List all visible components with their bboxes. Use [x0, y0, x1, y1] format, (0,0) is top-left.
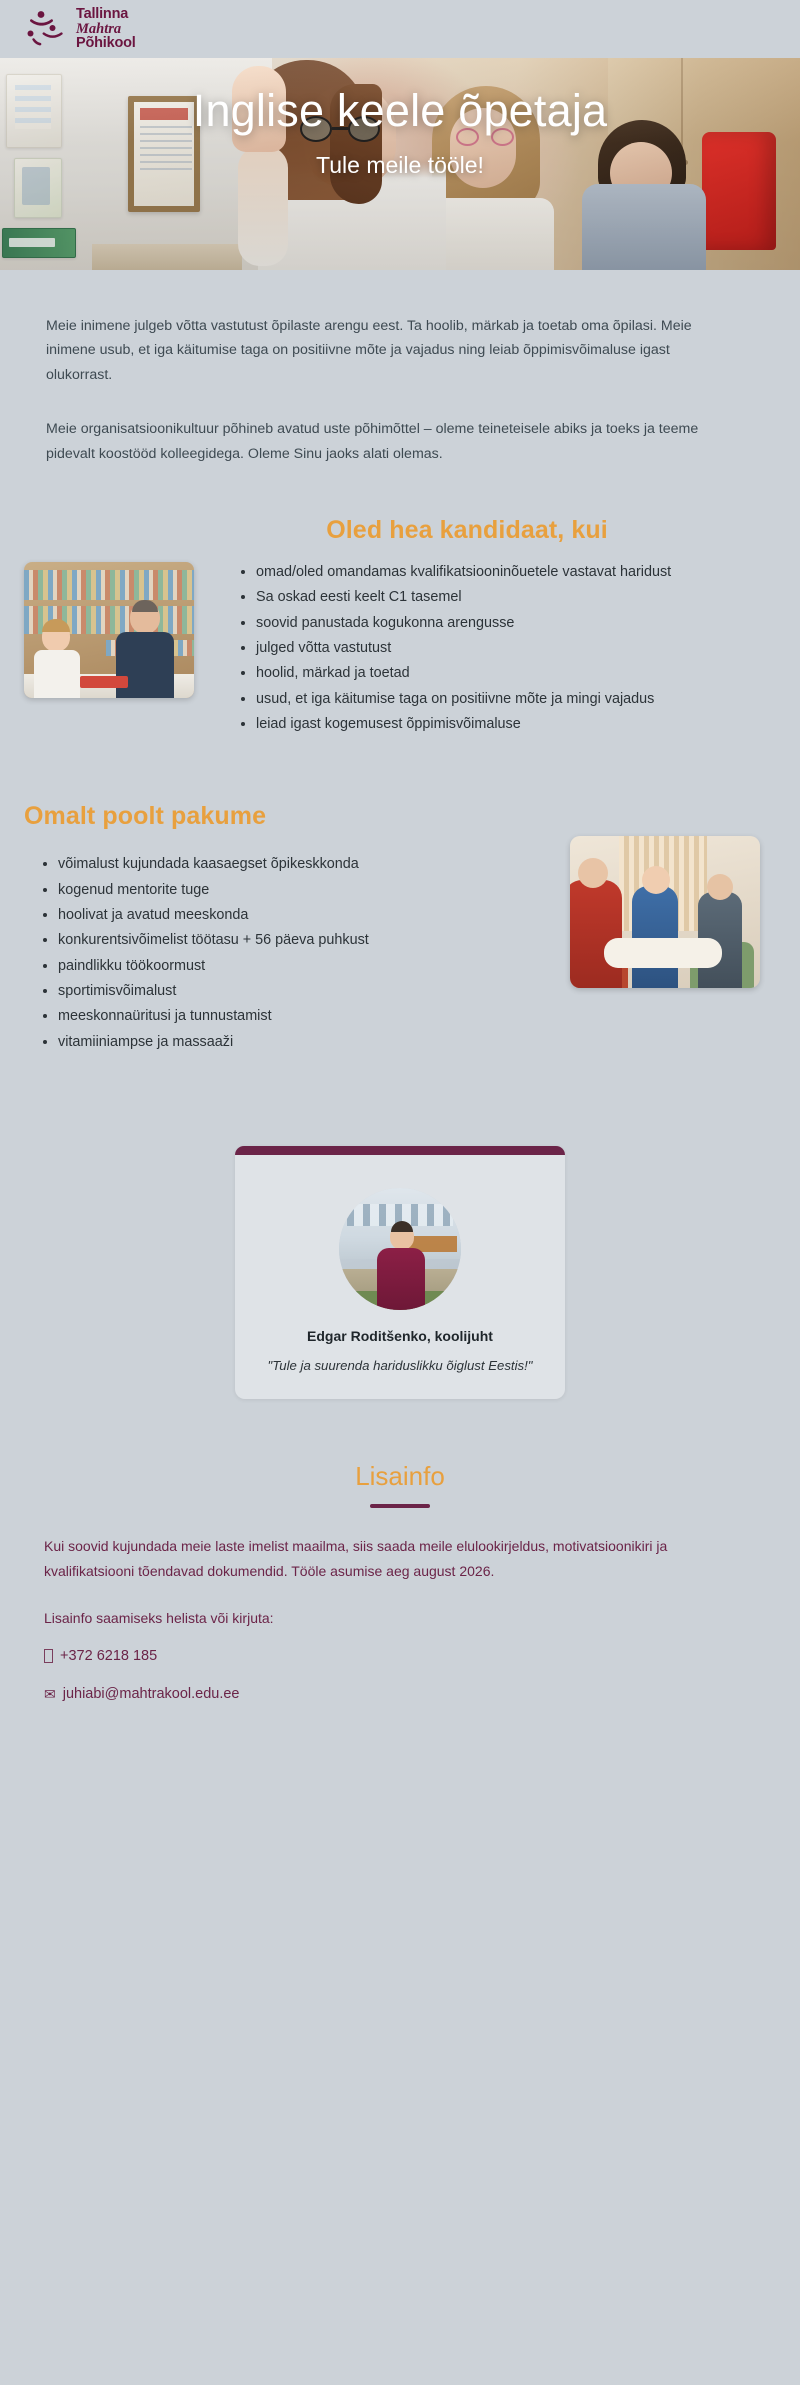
logo-line-1: Tallinna: [76, 7, 136, 22]
list-item: omad/oled omandamas kvalifikatsiooninõue…: [256, 561, 764, 583]
list-item: leiad igast kogemusest õppimisvõimaluse: [256, 713, 764, 735]
hero-subtitle: Tule meile tööle!: [0, 152, 800, 179]
list-item: vitamiiniampse ja massaaži: [58, 1031, 570, 1053]
list-item: Sa oskad eesti keelt C1 tasemel: [256, 586, 764, 608]
envelope-icon: ✉: [44, 1687, 56, 1701]
offer-section: Omalt poolt pakume võimalust kujundada k…: [0, 760, 800, 1102]
candidate-list: omad/oled omandamas kvalifikatsiooninõue…: [210, 561, 764, 735]
contact-prompt: Lisainfo saamiseks helista või kirjuta:: [44, 1610, 756, 1626]
site-header: Tallinna Mahtra Põhikool: [0, 0, 800, 58]
logo-line-2: Mahtra: [76, 22, 136, 37]
candidate-heading: Oled hea kandidaat, kui: [210, 516, 764, 545]
offer-heading: Omalt poolt pakume: [24, 802, 570, 831]
list-item: sportimisvõimalust: [58, 980, 570, 1002]
intro-paragraph-2: Meie organisatsioonikultuur põhineb avat…: [46, 417, 736, 466]
hero-banner: Inglise keele õpetaja Tule meile tööle!: [0, 58, 800, 270]
list-item: kogenud mentorite tuge: [58, 879, 570, 901]
testimonial-name: Edgar Roditšenko, koolijuht: [261, 1328, 539, 1344]
card-accent-bar: [235, 1146, 565, 1155]
logo-line-3: Põhikool: [76, 36, 136, 51]
email-address: juhiabi@mahtrakool.edu.ee: [63, 1686, 240, 1702]
offer-list: võimalust kujundada kaasaegset õpikeskko…: [24, 853, 570, 1053]
phone-contact[interactable]: +372 6218 185: [44, 1648, 756, 1664]
list-item: võimalust kujundada kaasaegset õpikeskko…: [58, 853, 570, 875]
offer-text-column: Omalt poolt pakume võimalust kujundada k…: [0, 802, 570, 1056]
school-logo[interactable]: Tallinna Mahtra Põhikool: [24, 7, 136, 51]
list-item: meeskonnaüritusi ja tunnustamist: [58, 1005, 570, 1027]
list-item: usud, et iga käitumise taga on positiivn…: [256, 688, 764, 710]
candidate-text-column: Oled hea kandidaat, kui omad/oled omanda…: [210, 516, 800, 738]
phone-icon: [44, 1649, 53, 1663]
library-photo: [24, 562, 194, 698]
list-item: paindlikku töökoormust: [58, 955, 570, 977]
list-item: konkurentsivõimelist töötasu + 56 päeva …: [58, 929, 570, 951]
page-title: Inglise keele õpetaja: [0, 86, 800, 136]
list-item: hoolivat ja avatud meeskonda: [58, 904, 570, 926]
intro-section: Meie inimene julgeb võtta vastutust õpil…: [0, 270, 800, 476]
heading-divider: [370, 1504, 430, 1508]
phone-number: +372 6218 185: [60, 1648, 157, 1664]
intro-paragraph-1: Meie inimene julgeb võtta vastutust õpil…: [46, 314, 736, 387]
tallinna-mahtra-pohikool-logo-icon: [24, 9, 66, 49]
logo-wordmark: Tallinna Mahtra Põhikool: [76, 7, 136, 51]
testimonial-section: Edgar Roditšenko, koolijuht "Tule ja suu…: [0, 1102, 800, 1435]
candidate-image-column: [0, 516, 210, 738]
list-item: julged võtta vastutust: [256, 637, 764, 659]
candidate-section: Oled hea kandidaat, kui omad/oled omanda…: [0, 476, 800, 760]
meeting-photo: [570, 836, 760, 988]
testimonial-card: Edgar Roditšenko, koolijuht "Tule ja suu…: [235, 1146, 565, 1399]
email-contact[interactable]: ✉ juhiabi@mahtrakool.edu.ee: [44, 1686, 756, 1702]
avatar: [339, 1188, 461, 1310]
list-item: hoolid, märkad ja toetad: [256, 662, 764, 684]
job-posting-page: Tallinna Mahtra Põhikool: [0, 0, 800, 1762]
info-heading: Lisainfo: [44, 1461, 756, 1492]
list-item: soovid panustada kogukonna arengusse: [256, 612, 764, 634]
info-body-text: Kui soovid kujundada meie laste imelist …: [44, 1534, 704, 1584]
additional-info-section: Lisainfo Kui soovid kujundada meie laste…: [0, 1435, 800, 1762]
offer-image-column: [570, 802, 800, 988]
testimonial-quote: "Tule ja suurenda hariduslikku õiglust E…: [261, 1358, 539, 1373]
